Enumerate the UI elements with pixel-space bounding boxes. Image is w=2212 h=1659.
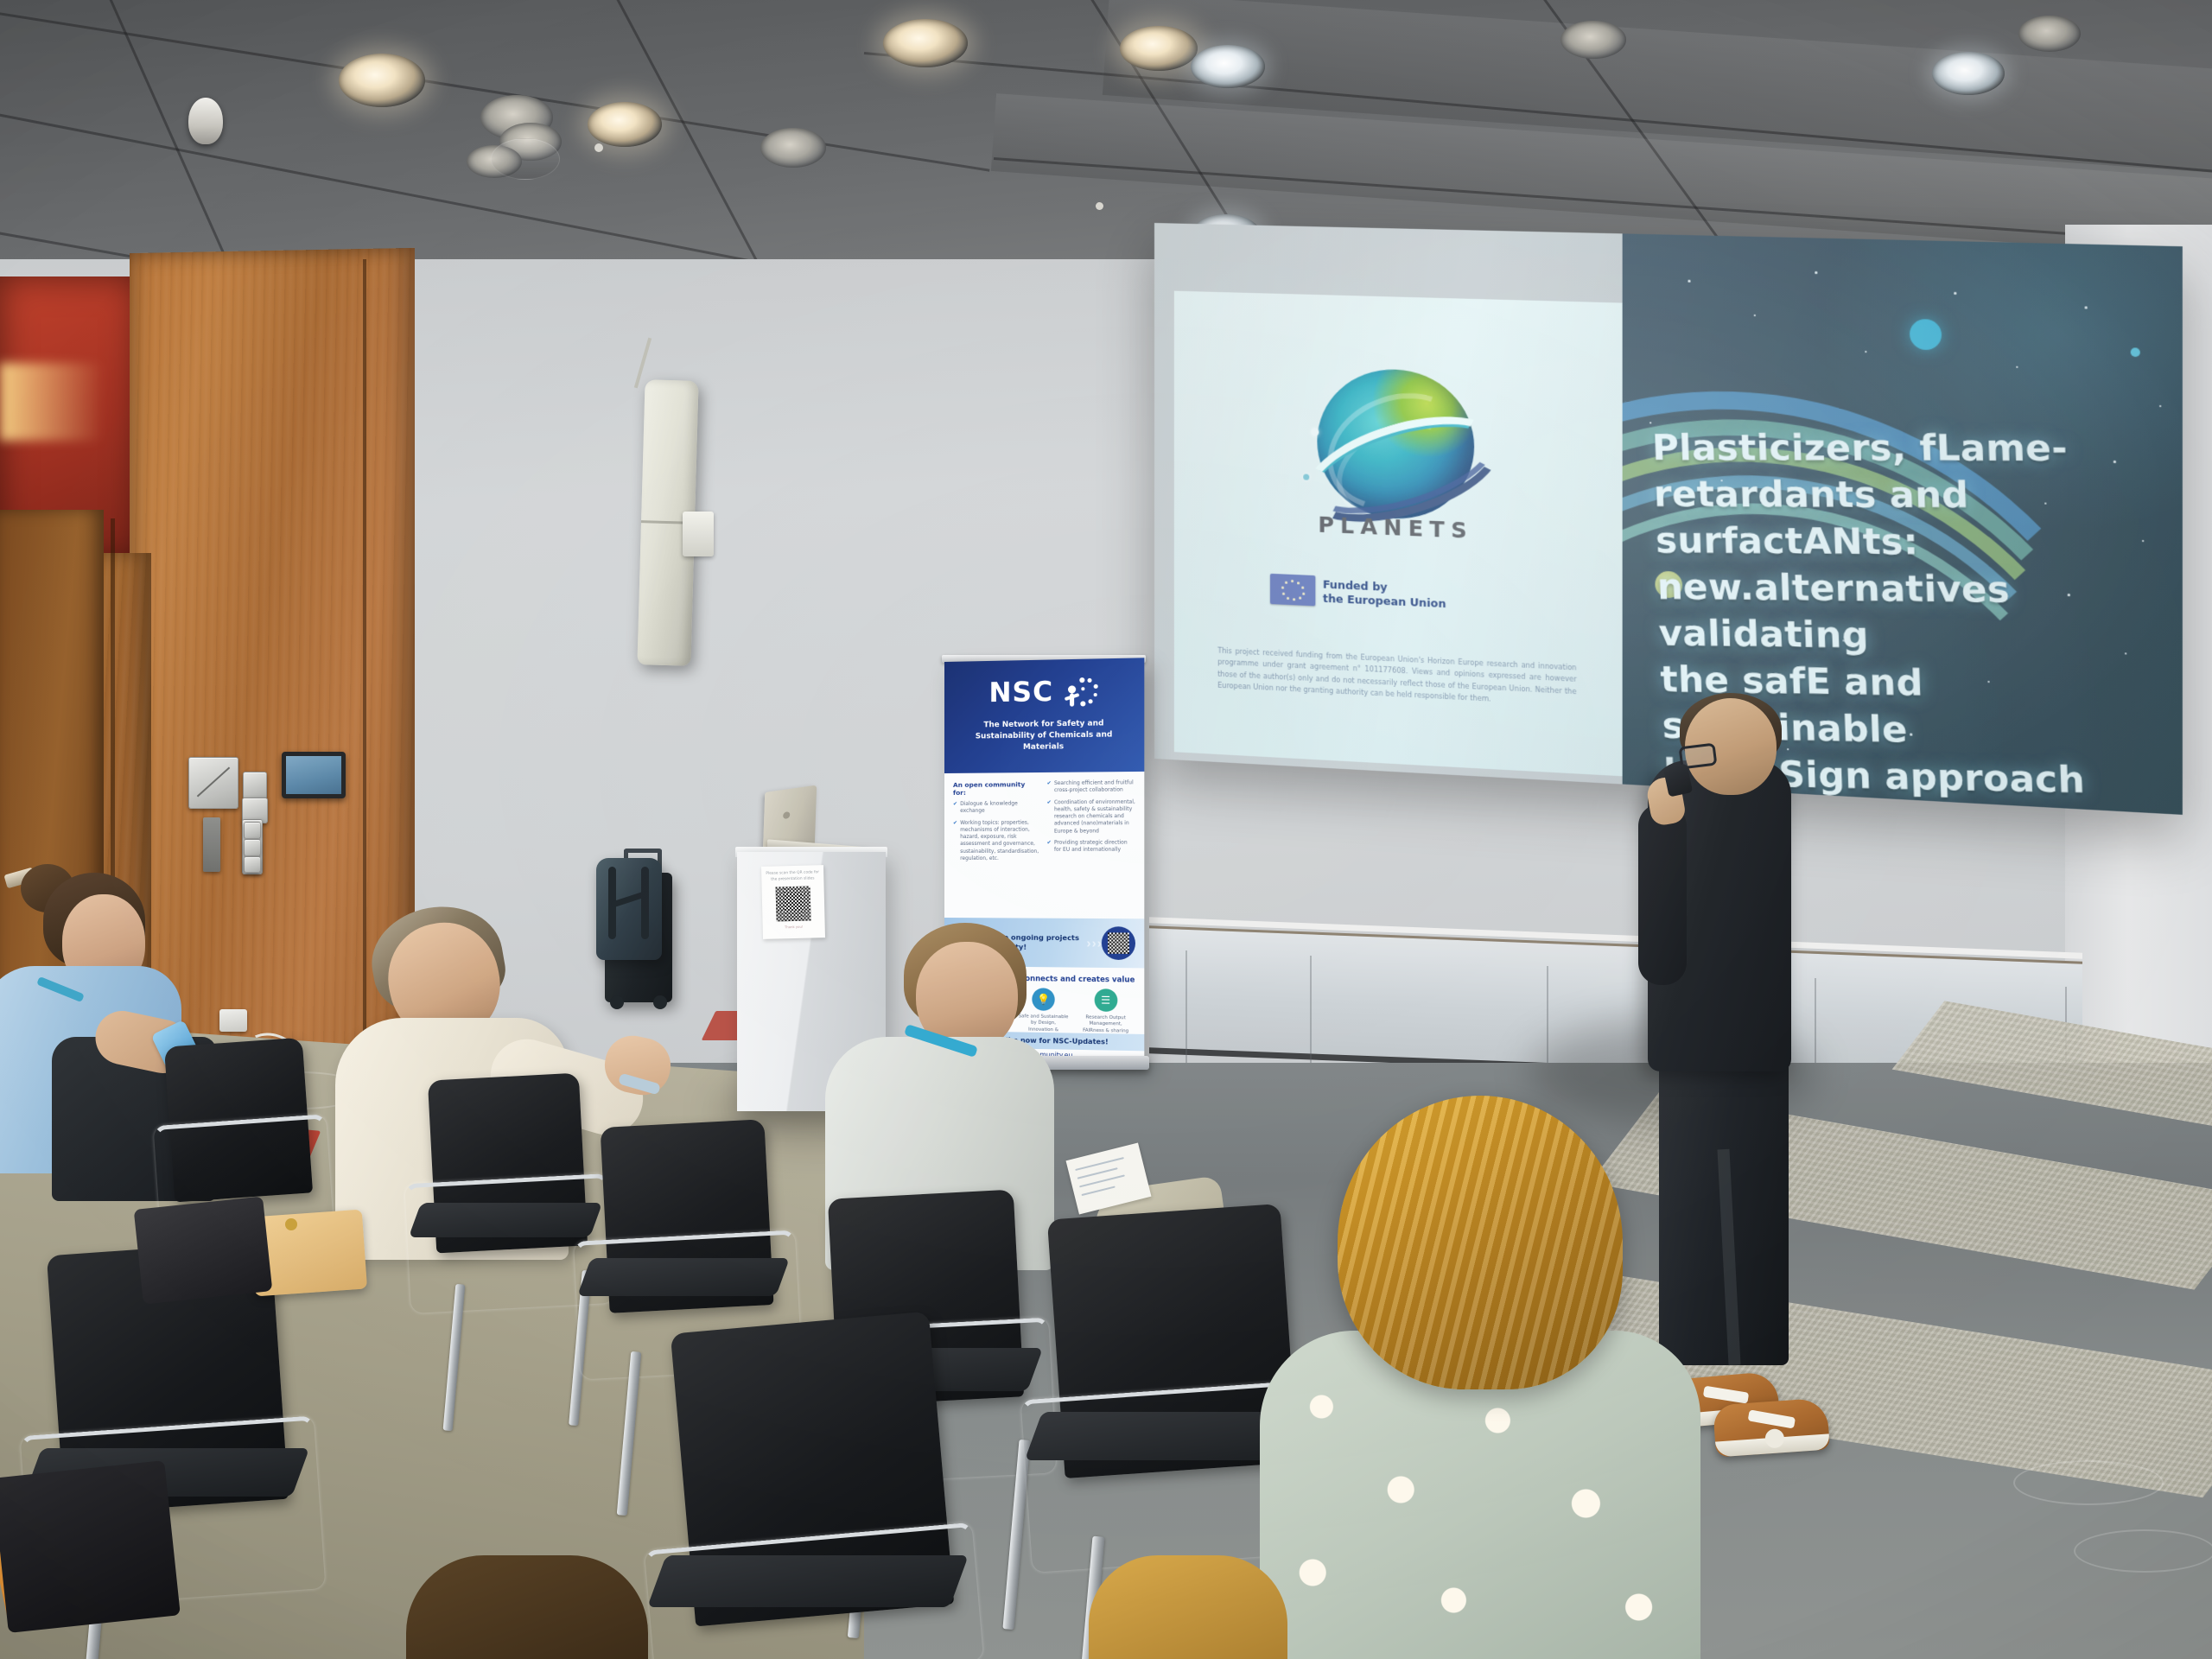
planet-moon-icon — [1311, 428, 1319, 435]
ceiling-downlight — [1560, 21, 1626, 59]
wall-seam — [1310, 956, 1312, 1066]
presenter-arm — [1638, 804, 1687, 985]
banner-body: An open community for: ✔ Dialogue & know… — [944, 772, 1144, 923]
planets-logo-icon: PLANETS — [1293, 359, 1499, 553]
banner-left-heading: An open community for: — [953, 780, 1040, 797]
attendee-foreground-head — [406, 1555, 648, 1659]
ceiling-downlight — [2018, 16, 2081, 52]
banner-list-item: ✔ Dialogue & knowledge exchange — [953, 800, 1040, 815]
eu-funding-badge: Funded by the European Union — [1270, 574, 1548, 617]
qr-code-image — [776, 887, 811, 922]
card-reader-slot[interactable] — [203, 817, 220, 872]
light-switch[interactable] — [244, 856, 261, 873]
slide-title-line: Plasticizers, fLame- — [1651, 424, 2157, 472]
attendee-hair — [1338, 1096, 1623, 1389]
ceiling-downlight — [1191, 45, 1265, 88]
wall-power-socket[interactable] — [219, 1009, 247, 1032]
nsc-network-icon — [1061, 674, 1098, 709]
chevron-right-icon: › — [1097, 936, 1102, 950]
nsc-logo-row: NSC — [944, 658, 1144, 711]
ceiling-sprinkler-icon — [594, 143, 603, 152]
ceiling-vent — [491, 138, 560, 180]
database-icon: ☰ — [1094, 988, 1117, 1012]
speaker-bracket — [683, 512, 714, 556]
smoke-detector-icon — [188, 98, 223, 144]
slide-title-line: retardants and surfactANts: — [1653, 471, 2160, 568]
banner-list-item: ✔ Searching efficient and fruitful cross… — [1047, 779, 1135, 795]
blank-wall-plate[interactable] — [243, 772, 267, 799]
check-icon: ✔ — [953, 819, 957, 862]
banner-left-column: An open community for: ✔ Dialogue & know… — [953, 780, 1040, 923]
slide-orb-large — [1910, 319, 1942, 351]
banner-list-item: ✔ Working topics: properties, mechanisms… — [953, 819, 1040, 862]
qr-sheet-caption-top: Please scan the QR code for the presenta… — [766, 870, 819, 883]
eu-funding-text: Funded by the European Union — [1323, 577, 1446, 611]
ceiling-sprinkler-icon — [1096, 202, 1103, 210]
check-icon: ✔ — [1047, 799, 1052, 836]
ceiling-downlight — [1932, 52, 2005, 95]
chevron-right-icon: › — [1086, 936, 1090, 950]
planets-wordmark: PLANETS — [1293, 511, 1499, 544]
ceiling-downlight — [588, 102, 662, 147]
light-switch[interactable] — [244, 822, 261, 839]
touch-panel-screen[interactable] — [282, 752, 346, 798]
slide-orb-small — [2131, 347, 2140, 357]
chevron-right-icon: › — [1092, 936, 1096, 950]
banner-header: NSC The Network for Safety and Sustainab… — [944, 658, 1144, 773]
banner-right-column: ✔ Searching efficient and fruitful cross… — [1047, 779, 1135, 923]
banner-list-item: ✔ Providing strategic direction for EU a… — [1047, 839, 1135, 854]
backpack — [596, 858, 662, 960]
banner-qr-code[interactable] — [1102, 926, 1135, 960]
wood-panel-seam — [363, 259, 366, 1106]
attendee-foreground-head — [1089, 1555, 1287, 1659]
planet-moon-icon — [1303, 474, 1309, 480]
qr-sheet-caption-bottom: Thank you! — [767, 924, 821, 930]
ceiling-downlight — [1120, 26, 1198, 71]
slide-disclaimer: This project received funding from the E… — [1217, 645, 1576, 709]
tote-bag — [134, 1196, 273, 1304]
qr-code-sheet[interactable]: Please scan the QR code for the presenta… — [761, 865, 825, 939]
ceiling-downlight — [883, 19, 968, 67]
slide-title-line: new.alternatives validating — [1656, 563, 2164, 663]
presenter-shoe-right — [1713, 1397, 1830, 1457]
wall-seam — [1185, 950, 1187, 1063]
conference-room-photo: PLANETS Funded by the Europe — [0, 0, 2212, 1659]
nsc-tagline: The Network for Safety and Sustainabilit… — [944, 718, 1144, 754]
light-switch[interactable] — [244, 839, 261, 856]
banner-list-item: ✔ Coordination of environmental, health,… — [1047, 798, 1135, 835]
projection-screen: PLANETS Funded by the Europe — [1154, 223, 2183, 815]
check-icon: ✔ — [1047, 780, 1052, 795]
ceiling-downlight — [339, 54, 425, 107]
lightbulb-icon: 💡 — [1032, 988, 1054, 1011]
eu-flag-icon — [1270, 574, 1315, 607]
alcove-light-glow — [0, 363, 104, 441]
ceiling-downlight — [760, 128, 826, 168]
floor-vent — [2074, 1529, 2212, 1573]
check-icon: ✔ — [953, 801, 957, 816]
bag-clasp-icon — [285, 1218, 297, 1230]
black-bag — [0, 1460, 181, 1633]
floor-vent — [2013, 1460, 2164, 1505]
check-icon: ✔ — [1047, 840, 1052, 855]
slide-left-panel: PLANETS Funded by the Europe — [1173, 290, 1622, 776]
nsc-wordmark: NSC — [988, 678, 1053, 707]
